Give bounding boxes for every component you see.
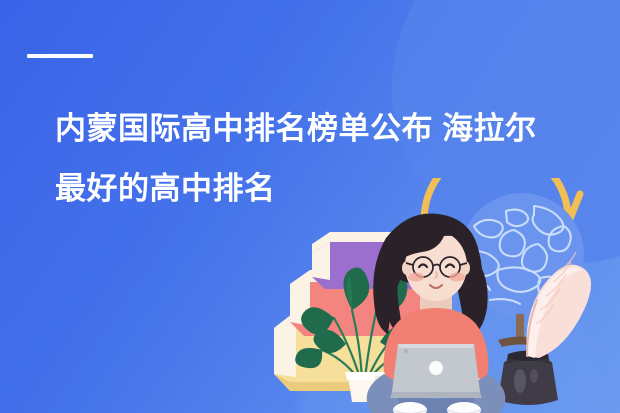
student-studying-illustration: [268, 178, 620, 413]
title-rule-divider: [27, 54, 93, 58]
banner-root: 内蒙国际高中排名榜单公布 海拉尔最好的高中排名: [0, 0, 620, 413]
